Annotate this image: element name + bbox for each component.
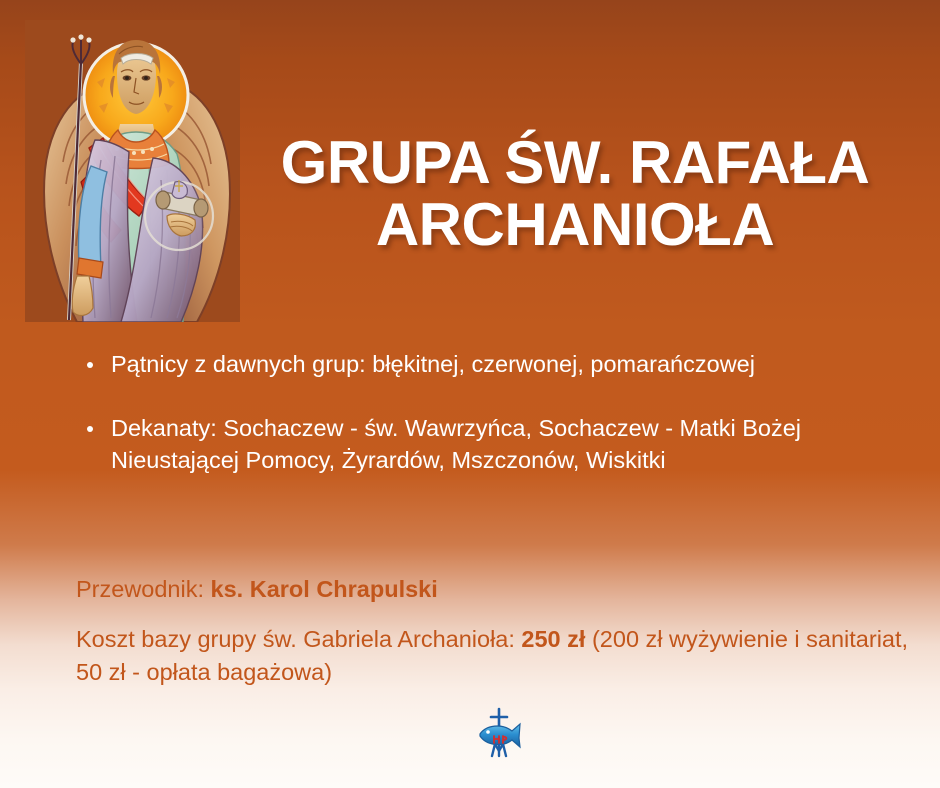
leader-line: Przewodnik: ks. Karol Chrapulski (76, 573, 926, 605)
cost-line: Koszt bazy grupy św. Gabriela Archanioła… (76, 623, 926, 689)
poster-title: GRUPA ŚW. RAFAŁA ARCHANIOŁA (245, 132, 905, 256)
bullet-item-deaneries: Dekanaty: Sochaczew - św. Wawrzyńca, Soc… (78, 412, 923, 476)
leader-label: Przewodnik: (76, 576, 211, 602)
cost-prefix: Koszt bazy grupy św. Gabriela Archanioła… (76, 626, 521, 652)
title-line-1: GRUPA ŚW. RAFAŁA (245, 132, 905, 194)
title-line-2: ARCHANIOŁA (245, 194, 905, 256)
leader-name: ks. Karol Chrapulski (211, 576, 438, 602)
details-block: Przewodnik: ks. Karol Chrapulski Koszt b… (76, 573, 926, 689)
ichthys-fish-cross-logo (470, 706, 528, 760)
bullet-list: Pątnicy z dawnych grup: błękitnej, czerw… (78, 348, 923, 508)
cost-amount: 250 zł (521, 626, 585, 652)
archangel-raphael-icon (25, 20, 240, 322)
poster-canvas: GRUPA ŚW. RAFAŁA ARCHANIOŁA Pątnicy z da… (0, 0, 940, 788)
bullet-item-pilgrims: Pątnicy z dawnych grup: błękitnej, czerw… (78, 348, 923, 380)
